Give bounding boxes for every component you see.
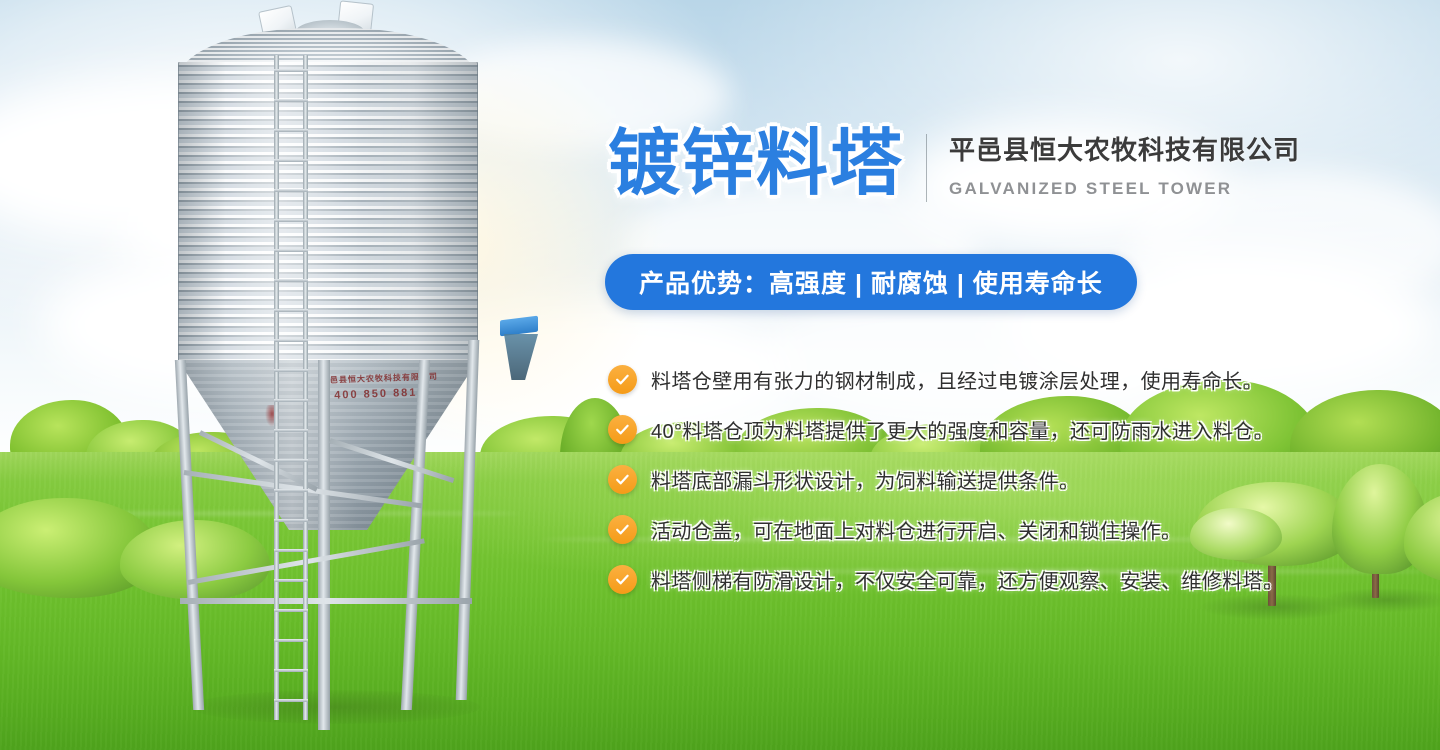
list-item: 料塔仓壁用有张力的钢材制成，且经过电镀涂层处理，使用寿命长。: [608, 358, 1298, 400]
ladder-rung: [274, 579, 308, 582]
advantage-badge-label: 产品优势：高强度 | 耐腐蚀 | 使用寿命长: [639, 264, 1103, 300]
check-circle-icon: [608, 465, 637, 494]
silo-cross-brace: [180, 598, 472, 604]
silo-side-ladder: [272, 55, 310, 720]
silo-discharge-chute: [504, 334, 538, 380]
ladder-rung: [274, 459, 308, 462]
silo-blue-band: [500, 316, 538, 337]
silo-barrel: [178, 62, 478, 362]
ladder-rung: [274, 369, 308, 372]
silo-ground-shadow: [190, 690, 480, 724]
feature-list: 料塔仓壁用有张力的钢材制成，且经过电镀涂层处理，使用寿命长。 40°料塔仓顶为料…: [608, 358, 1298, 608]
ladder-rung: [274, 429, 308, 432]
ladder-rung: [274, 69, 308, 72]
ladder-rung: [274, 279, 308, 282]
feature-text: 料塔底部漏斗形状设计，为饲料输送提供条件。: [651, 465, 1079, 494]
advantage-badge: 产品优势：高强度 | 耐腐蚀 | 使用寿命长: [605, 254, 1137, 310]
ladder-rung: [274, 159, 308, 162]
silo-leg: [318, 360, 330, 730]
feature-text: 料塔侧梯有防滑设计，不仅安全可靠，还方便观察、安装、维修料塔。: [651, 565, 1283, 594]
list-item: 料塔侧梯有防滑设计，不仅安全可靠，还方便观察、安装、维修料塔。: [608, 558, 1298, 600]
silo-leg: [175, 360, 204, 710]
ladder-rung: [274, 489, 308, 492]
ladder-rung: [274, 99, 308, 102]
ladder-rung: [274, 399, 308, 402]
list-item: 料塔底部漏斗形状设计，为饲料输送提供条件。: [608, 458, 1298, 500]
ladder-rung: [274, 219, 308, 222]
feature-text: 料塔仓壁用有张力的钢材制成，且经过电镀涂层处理，使用寿命长。: [651, 365, 1263, 394]
title-divider: [926, 134, 927, 202]
tree-shadow: [1322, 588, 1440, 612]
page-title: 镀锌料塔: [608, 122, 904, 206]
check-circle-icon: [608, 365, 637, 394]
company-subtitle: GALVANIZED STEEL TOWER: [949, 179, 1300, 199]
ladder-rung: [274, 309, 308, 312]
ladder-rung: [274, 699, 308, 702]
galvanized-feed-silo-photo: 平邑县恒大农牧科技有限公司 400 850 8819: [80, 0, 550, 750]
feature-text: 40°料塔仓顶为料塔提供了更大的强度和容量，还可防雨水进入料仓。: [651, 415, 1274, 444]
list-item: 40°料塔仓顶为料塔提供了更大的强度和容量，还可防雨水进入料仓。: [608, 408, 1298, 450]
list-item: 活动仓盖，可在地面上对料仓进行开启、关闭和锁住操作。: [608, 508, 1298, 550]
check-circle-icon: [608, 565, 637, 594]
ladder-rung: [274, 519, 308, 522]
ladder-rung: [274, 129, 308, 132]
ladder-rung: [274, 549, 308, 552]
ladder-rail: [303, 55, 308, 720]
ladder-rung: [274, 609, 308, 612]
ladder-rail: [274, 55, 279, 720]
check-circle-icon: [608, 515, 637, 544]
company-block: 平邑县恒大农牧科技有限公司 GALVANIZED STEEL TOWER: [949, 122, 1300, 199]
feature-text: 活动仓盖，可在地面上对料仓进行开启、关闭和锁住操作。: [651, 515, 1181, 544]
ladder-rung: [274, 639, 308, 642]
ladder-rung: [274, 249, 308, 252]
title-row: 镀锌料塔 平邑县恒大农牧科技有限公司 GALVANIZED STEEL TOWE…: [608, 122, 1300, 206]
hero-content: 镀锌料塔 平邑县恒大农牧科技有限公司 GALVANIZED STEEL TOWE…: [600, 0, 1300, 750]
ladder-rung: [274, 339, 308, 342]
ladder-rung: [274, 669, 308, 672]
check-circle-icon: [608, 415, 637, 444]
company-name: 平邑县恒大农牧科技有限公司: [949, 130, 1300, 167]
ladder-rung: [274, 189, 308, 192]
